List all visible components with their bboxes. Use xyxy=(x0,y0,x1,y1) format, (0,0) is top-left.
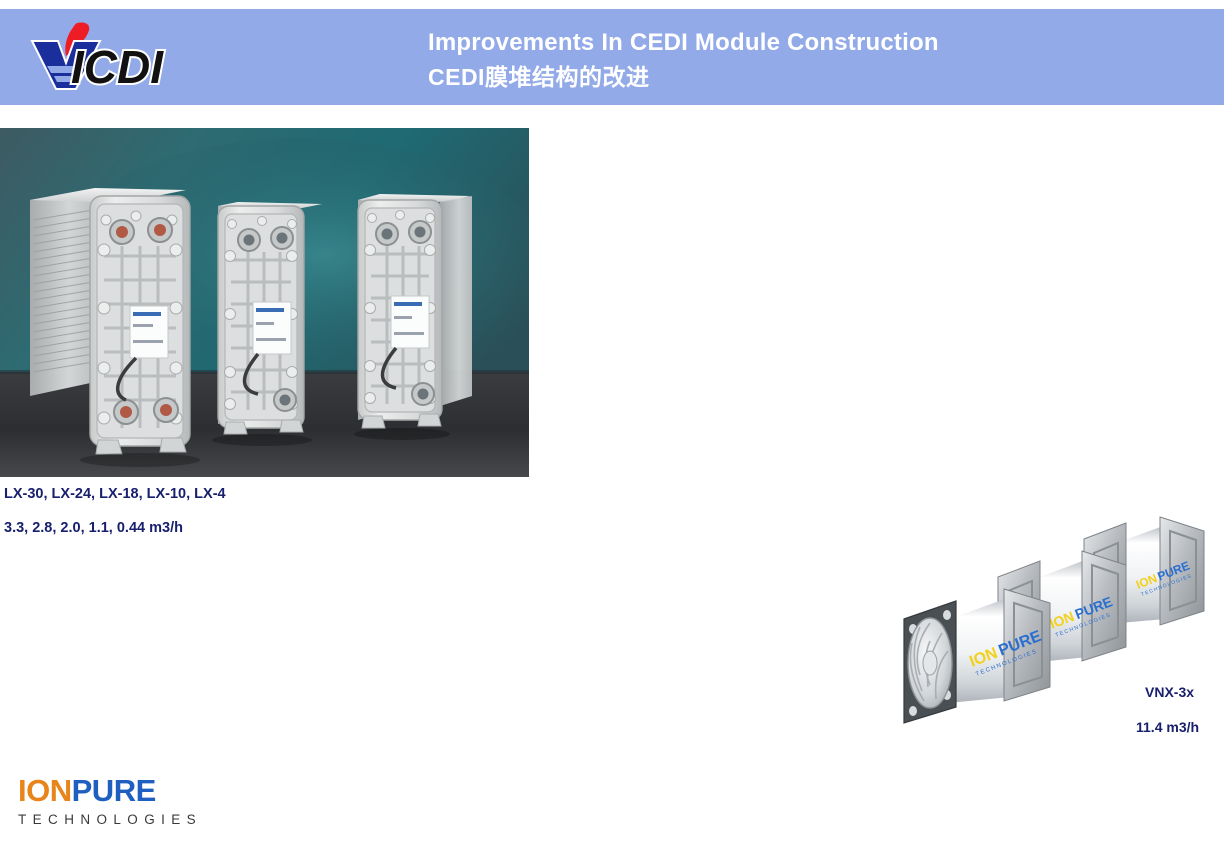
vnx-module-illustration: ION PURE TECHNOLOGIES ION PURE TECHNOLOG… xyxy=(898,515,1218,745)
caption-module-models: LX-30, LX-24, LX-18, LX-10, LX-4 xyxy=(4,486,226,502)
page-title-english: Improvements In CEDI Module Construction xyxy=(428,26,1188,60)
caption-vnx-model: VNX-3x xyxy=(1145,684,1194,700)
slide-header-band: ICDI Improvements In CEDI Module Constru… xyxy=(0,9,1224,105)
ionpure-pure-text: PURE xyxy=(72,773,156,808)
header-title-block: Improvements In CEDI Module Construction… xyxy=(428,26,1188,94)
ionpure-logo: IONPURE TECHNOLOGIES xyxy=(18,775,218,837)
page-title-chinese: CEDI膜堆结构的改进 xyxy=(428,60,1188,94)
icdi-wordmark: ICDI xyxy=(71,41,164,93)
vnx-module-front: ION PURE TECHNOLOGIES xyxy=(904,589,1050,723)
caption-vnx-flowrate: 11.4 m3/h xyxy=(1136,719,1199,735)
ionpure-ion-text: ION xyxy=(18,773,72,808)
ionpure-tagline: TECHNOLOGIES xyxy=(18,810,218,830)
vicdi-logo: ICDI xyxy=(14,19,194,95)
cedi-modules-photo xyxy=(0,128,529,477)
caption-module-flowrates: 3.3, 2.8, 2.0, 1.1, 0.44 m3/h xyxy=(4,520,183,536)
ionpure-wordmark: IONPURE xyxy=(18,775,218,807)
